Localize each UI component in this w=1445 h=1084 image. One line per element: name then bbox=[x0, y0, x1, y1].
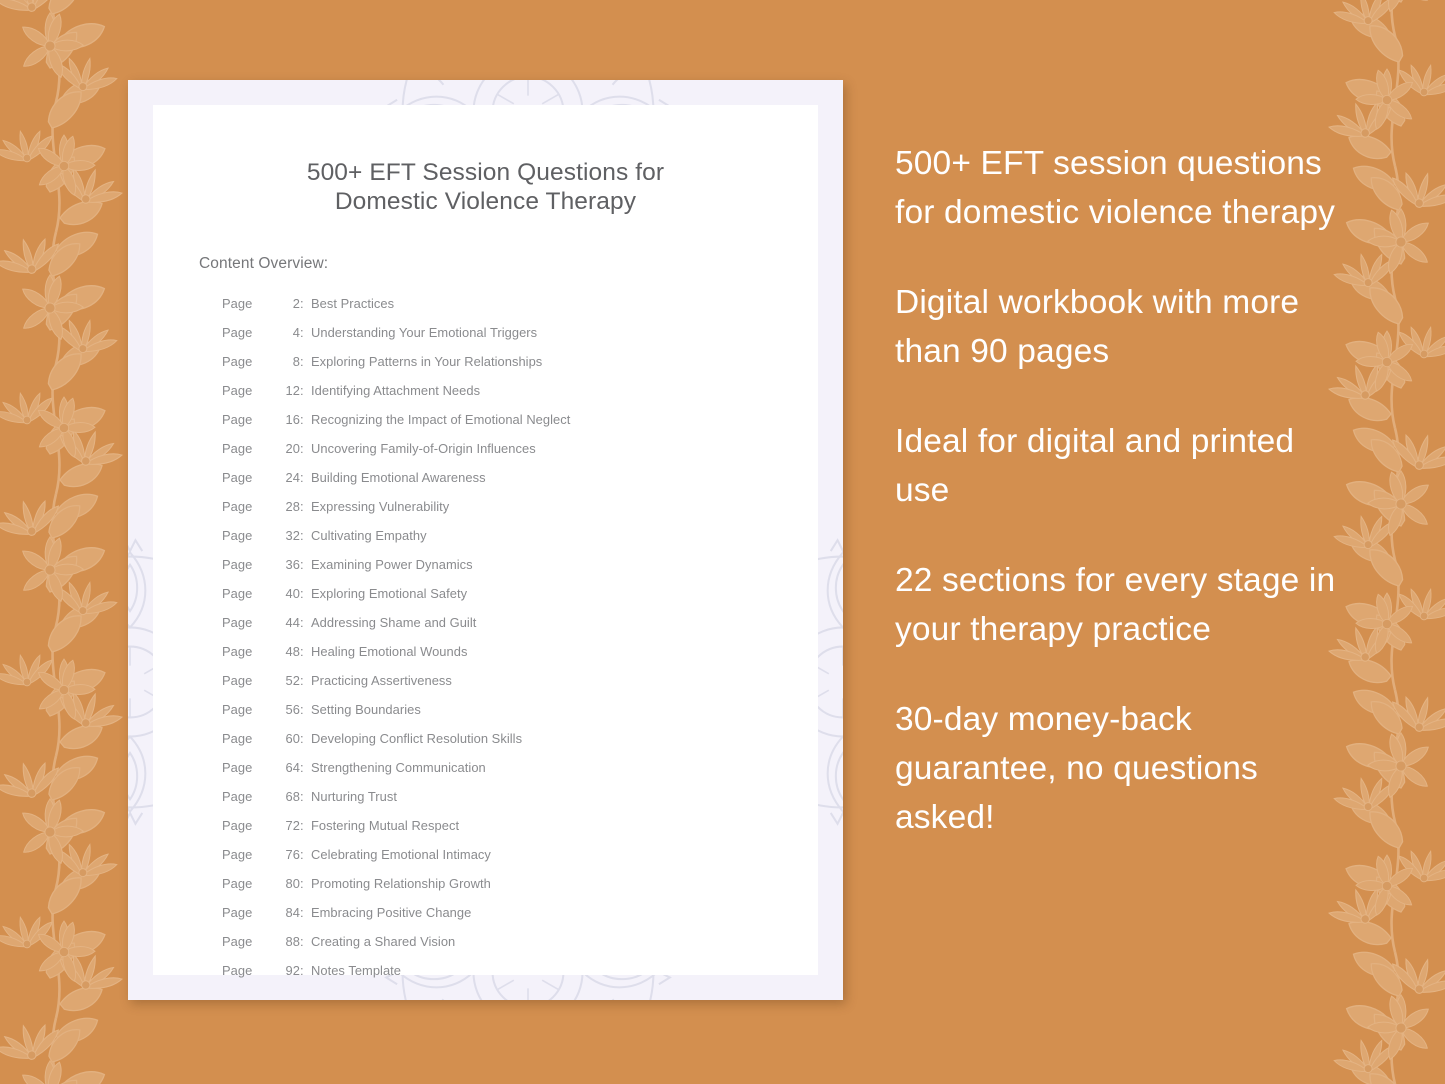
page-title-line-1: 500+ EFT Session Questions for bbox=[153, 158, 818, 187]
toc-row: Page92:Notes Template bbox=[222, 956, 818, 985]
toc-page-word: Page bbox=[222, 782, 279, 811]
toc-page-number: 80 bbox=[279, 869, 300, 898]
toc-page-number: 92 bbox=[279, 956, 300, 985]
toc-page-number: 56 bbox=[279, 695, 300, 724]
page-title-line-2: Domestic Violence Therapy bbox=[153, 187, 818, 216]
toc-page-number: 60 bbox=[279, 724, 300, 753]
toc-page-word: Page bbox=[222, 666, 279, 695]
toc-section-title: Promoting Relationship Growth bbox=[311, 869, 491, 898]
toc-separator: : bbox=[300, 579, 311, 608]
toc-separator: : bbox=[300, 492, 311, 521]
toc-page-word: Page bbox=[222, 492, 279, 521]
toc-page-word: Page bbox=[222, 840, 279, 869]
toc-page-word: Page bbox=[222, 695, 279, 724]
toc-separator: : bbox=[300, 695, 311, 724]
toc-page-number: 88 bbox=[279, 927, 300, 956]
promo-feature-list: 500+ EFT session questions for domestic … bbox=[895, 139, 1350, 842]
toc-separator: : bbox=[300, 637, 311, 666]
toc-page-number: 32 bbox=[279, 521, 300, 550]
toc-row: Page76:Celebrating Emotional Intimacy bbox=[222, 840, 818, 869]
toc-row: Page24:Building Emotional Awareness bbox=[222, 463, 818, 492]
toc-row: Page88:Creating a Shared Vision bbox=[222, 927, 818, 956]
toc-section-title: Developing Conflict Resolution Skills bbox=[311, 724, 522, 753]
toc-section-title: Healing Emotional Wounds bbox=[311, 637, 467, 666]
toc-separator: : bbox=[300, 550, 311, 579]
toc-row: Page64:Strengthening Communication bbox=[222, 753, 818, 782]
toc-page-number: 2 bbox=[279, 289, 300, 318]
toc-separator: : bbox=[300, 782, 311, 811]
toc-page-number: 68 bbox=[279, 782, 300, 811]
toc-separator: : bbox=[300, 376, 311, 405]
toc-page-number: 24 bbox=[279, 463, 300, 492]
toc-page-word: Page bbox=[222, 898, 279, 927]
toc-row: Page56:Setting Boundaries bbox=[222, 695, 818, 724]
floral-vine-border-left-icon bbox=[0, 0, 129, 1084]
toc-separator: : bbox=[300, 318, 311, 347]
toc-section-title: Expressing Vulnerability bbox=[311, 492, 449, 521]
toc-separator: : bbox=[300, 927, 311, 956]
toc-row: Page48:Healing Emotional Wounds bbox=[222, 637, 818, 666]
toc-page-number: 36 bbox=[279, 550, 300, 579]
promo-feature-item: Digital workbook with more than 90 pages bbox=[895, 278, 1350, 376]
toc-page-number: 20 bbox=[279, 434, 300, 463]
toc-separator: : bbox=[300, 753, 311, 782]
toc-page-number: 72 bbox=[279, 811, 300, 840]
toc-page-number: 48 bbox=[279, 637, 300, 666]
toc-page-number: 84 bbox=[279, 898, 300, 927]
table-of-contents: Page2:Best PracticesPage4:Understanding … bbox=[153, 289, 818, 985]
toc-row: Page52:Practicing Assertiveness bbox=[222, 666, 818, 695]
toc-section-title: Practicing Assertiveness bbox=[311, 666, 452, 695]
toc-page-word: Page bbox=[222, 318, 279, 347]
toc-page-word: Page bbox=[222, 434, 279, 463]
toc-separator: : bbox=[300, 405, 311, 434]
toc-separator: : bbox=[300, 666, 311, 695]
toc-row: Page60:Developing Conflict Resolution Sk… bbox=[222, 724, 818, 753]
toc-section-title: Best Practices bbox=[311, 289, 394, 318]
toc-separator: : bbox=[300, 463, 311, 492]
toc-section-title: Identifying Attachment Needs bbox=[311, 376, 480, 405]
page-title: 500+ EFT Session Questions for Domestic … bbox=[153, 158, 818, 216]
toc-separator: : bbox=[300, 724, 311, 753]
preview-sheet: 500+ EFT Session Questions for Domestic … bbox=[153, 105, 818, 975]
toc-section-title: Fostering Mutual Respect bbox=[311, 811, 459, 840]
toc-page-word: Page bbox=[222, 579, 279, 608]
toc-section-title: Addressing Shame and Guilt bbox=[311, 608, 476, 637]
toc-section-title: Strengthening Communication bbox=[311, 753, 486, 782]
toc-page-word: Page bbox=[222, 289, 279, 318]
toc-section-title: Embracing Positive Change bbox=[311, 898, 471, 927]
toc-section-title: Understanding Your Emotional Triggers bbox=[311, 318, 537, 347]
toc-page-word: Page bbox=[222, 405, 279, 434]
toc-page-word: Page bbox=[222, 956, 279, 985]
toc-section-title: Setting Boundaries bbox=[311, 695, 421, 724]
toc-page-word: Page bbox=[222, 347, 279, 376]
toc-row: Page68:Nurturing Trust bbox=[222, 782, 818, 811]
toc-row: Page32:Cultivating Empathy bbox=[222, 521, 818, 550]
toc-page-word: Page bbox=[222, 463, 279, 492]
product-listing-image: 500+ EFT Session Questions for Domestic … bbox=[0, 0, 1445, 1084]
toc-row: Page40:Exploring Emotional Safety bbox=[222, 579, 818, 608]
toc-row: Page80:Promoting Relationship Growth bbox=[222, 869, 818, 898]
toc-page-word: Page bbox=[222, 811, 279, 840]
toc-row: Page84:Embracing Positive Change bbox=[222, 898, 818, 927]
toc-page-number: 12 bbox=[279, 376, 300, 405]
toc-page-word: Page bbox=[222, 637, 279, 666]
toc-page-word: Page bbox=[222, 927, 279, 956]
toc-section-title: Examining Power Dynamics bbox=[311, 550, 473, 579]
content-overview-label: Content Overview: bbox=[153, 255, 818, 273]
toc-page-number: 8 bbox=[279, 347, 300, 376]
toc-row: Page36:Examining Power Dynamics bbox=[222, 550, 818, 579]
toc-page-word: Page bbox=[222, 869, 279, 898]
toc-row: Page8:Exploring Patterns in Your Relatio… bbox=[222, 347, 818, 376]
toc-separator: : bbox=[300, 347, 311, 376]
toc-row: Page28:Expressing Vulnerability bbox=[222, 492, 818, 521]
toc-separator: : bbox=[300, 289, 311, 318]
promo-feature-item: 500+ EFT session questions for domestic … bbox=[895, 139, 1350, 237]
toc-page-word: Page bbox=[222, 521, 279, 550]
toc-page-number: 44 bbox=[279, 608, 300, 637]
toc-section-title: Exploring Emotional Safety bbox=[311, 579, 467, 608]
toc-page-number: 16 bbox=[279, 405, 300, 434]
toc-page-number: 76 bbox=[279, 840, 300, 869]
toc-section-title: Nurturing Trust bbox=[311, 782, 397, 811]
toc-separator: : bbox=[300, 434, 311, 463]
toc-page-number: 52 bbox=[279, 666, 300, 695]
toc-row: Page4:Understanding Your Emotional Trigg… bbox=[222, 318, 818, 347]
toc-section-title: Uncovering Family-of-Origin Influences bbox=[311, 434, 536, 463]
toc-page-number: 28 bbox=[279, 492, 300, 521]
toc-separator: : bbox=[300, 898, 311, 927]
toc-section-title: Creating a Shared Vision bbox=[311, 927, 455, 956]
toc-section-title: Exploring Patterns in Your Relationships bbox=[311, 347, 542, 376]
product-preview-card: 500+ EFT Session Questions for Domestic … bbox=[128, 80, 843, 1000]
toc-separator: : bbox=[300, 608, 311, 637]
promo-feature-item: 30-day money-back guarantee, no question… bbox=[895, 695, 1350, 842]
toc-page-word: Page bbox=[222, 550, 279, 579]
toc-page-number: 4 bbox=[279, 318, 300, 347]
toc-page-word: Page bbox=[222, 608, 279, 637]
toc-section-title: Notes Template bbox=[311, 956, 401, 985]
toc-page-number: 64 bbox=[279, 753, 300, 782]
toc-row: Page20:Uncovering Family-of-Origin Influ… bbox=[222, 434, 818, 463]
toc-page-number: 40 bbox=[279, 579, 300, 608]
toc-row: Page72:Fostering Mutual Respect bbox=[222, 811, 818, 840]
toc-section-title: Building Emotional Awareness bbox=[311, 463, 486, 492]
toc-section-title: Celebrating Emotional Intimacy bbox=[311, 840, 491, 869]
toc-separator: : bbox=[300, 956, 311, 985]
promo-feature-item: Ideal for digital and printed use bbox=[895, 417, 1350, 515]
toc-row: Page12:Identifying Attachment Needs bbox=[222, 376, 818, 405]
toc-separator: : bbox=[300, 521, 311, 550]
toc-page-word: Page bbox=[222, 724, 279, 753]
toc-page-word: Page bbox=[222, 376, 279, 405]
promo-feature-item: 22 sections for every stage in your ther… bbox=[895, 556, 1350, 654]
toc-separator: : bbox=[300, 811, 311, 840]
toc-separator: : bbox=[300, 840, 311, 869]
toc-page-word: Page bbox=[222, 753, 279, 782]
toc-row: Page44:Addressing Shame and Guilt bbox=[222, 608, 818, 637]
toc-section-title: Cultivating Empathy bbox=[311, 521, 427, 550]
toc-row: Page2:Best Practices bbox=[222, 289, 818, 318]
toc-separator: : bbox=[300, 869, 311, 898]
toc-row: Page16:Recognizing the Impact of Emotion… bbox=[222, 405, 818, 434]
toc-section-title: Recognizing the Impact of Emotional Negl… bbox=[311, 405, 570, 434]
